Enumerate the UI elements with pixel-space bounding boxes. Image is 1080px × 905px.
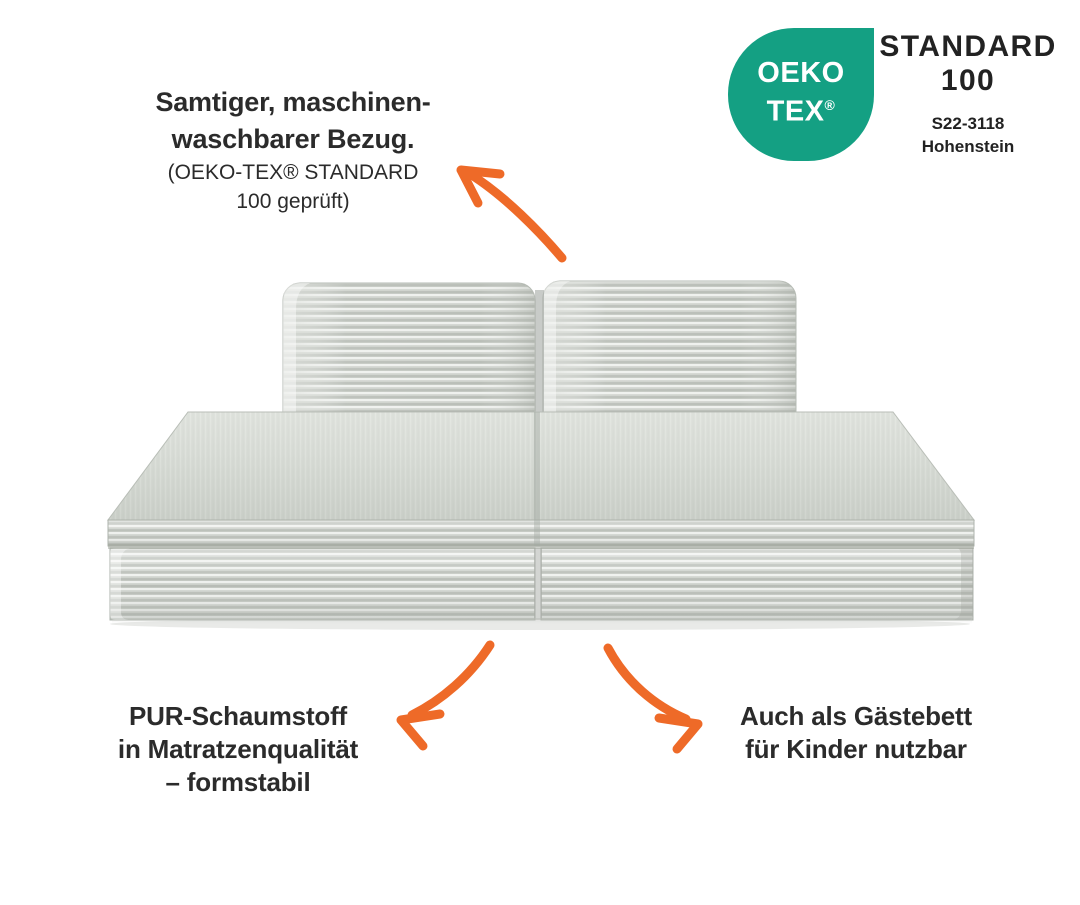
callout-washable-cover: Samtiger, maschinen- waschbarer Bezug. (… — [118, 84, 468, 216]
oeko-logo-line1: OEKO — [728, 58, 874, 88]
oeko-logo-tex: TEX — [767, 96, 825, 128]
callout-bottom-left-line3: – formstabil — [78, 766, 398, 799]
standard-label: STANDARD — [878, 30, 1058, 64]
callout-top-headline-line1: Samtiger, maschinen- — [118, 84, 468, 121]
base-cushion-right — [541, 548, 973, 620]
callout-bottom-right-line2: für Kinder nutzbar — [706, 733, 1006, 766]
callout-pur-foam: PUR-Schaumstoff in Matratzenqualität – f… — [78, 700, 398, 799]
seat-front-edge — [108, 520, 974, 546]
oeko-tex-logo: OEKO TEX® — [728, 28, 874, 161]
callout-top-sub-line2: 100 geprüft) — [118, 187, 468, 216]
oeko-tex-certification: OEKO TEX® STANDARD 100 S22-3118 Hohenste… — [728, 28, 1058, 178]
oeko-logo-line2: TEX® — [728, 90, 874, 127]
base-cushion-left — [110, 548, 535, 620]
product-feature-graphic: OEKO TEX® STANDARD 100 S22-3118 Hohenste… — [0, 0, 1080, 900]
callout-bottom-right-line1: Auch als Gästebett — [706, 700, 1006, 733]
callout-top-headline-line2: waschbarer Bezug. — [118, 121, 468, 158]
certifying-institute: Hohenstein — [878, 135, 1058, 158]
oeko-tex-details: STANDARD 100 S22-3118 Hohenstein — [878, 30, 1058, 158]
standard-number: 100 — [878, 64, 1058, 98]
callout-bottom-left-line1: PUR-Schaumstoff — [78, 700, 398, 733]
callout-guest-bed: Auch als Gästebett für Kinder nutzbar — [706, 700, 1006, 766]
callout-bottom-left-line2: in Matratzenqualität — [78, 733, 398, 766]
certificate-number: S22-3118 — [878, 112, 1058, 135]
callout-top-sub-line1: (OEKO-TEX® STANDARD — [118, 158, 468, 187]
registered-mark-icon: ® — [825, 97, 836, 113]
